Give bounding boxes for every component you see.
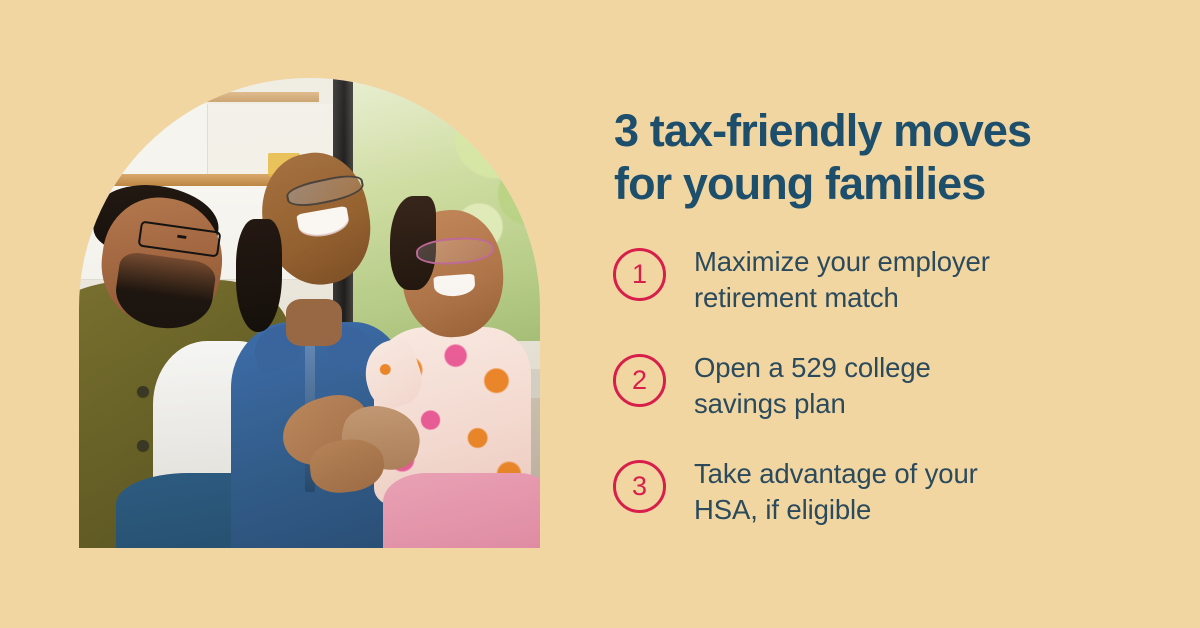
- family-photo: [79, 78, 540, 548]
- page-title: 3 tax-friendly moves for young families: [614, 104, 1114, 210]
- list-item: 2 Open a 529 college savings plan: [613, 352, 1113, 458]
- promo-card: 3 tax-friendly moves for young families …: [0, 0, 1200, 628]
- tips-list: 1 Maximize your employer retirement matc…: [613, 246, 1113, 564]
- step-number-badge-3: 3: [613, 460, 666, 513]
- content-column: 3 tax-friendly moves for young families …: [613, 0, 1133, 628]
- daughter-pants: [383, 473, 540, 548]
- jacket-button-bottom: [137, 440, 149, 451]
- list-item: 3 Take advantage of your HSA, if eligibl…: [613, 458, 1113, 564]
- list-item-label-2: Open a 529 college savings plan: [694, 350, 1094, 422]
- jacket-button-top: [137, 386, 149, 397]
- list-item: 1 Maximize your employer retirement matc…: [613, 246, 1113, 352]
- photo-scene: [79, 78, 540, 548]
- mother-neck: [286, 299, 341, 346]
- step-number-badge-2: 2: [613, 354, 666, 407]
- shelf-plant: [107, 78, 181, 97]
- step-number-badge-1: 1: [613, 248, 666, 301]
- cabinet-left: [79, 104, 208, 175]
- list-item-label-3: Take advantage of your HSA, if eligible: [694, 456, 1094, 528]
- list-item-label-1: Maximize your employer retirement match: [694, 244, 1094, 316]
- mother-hair-strand: [236, 219, 282, 332]
